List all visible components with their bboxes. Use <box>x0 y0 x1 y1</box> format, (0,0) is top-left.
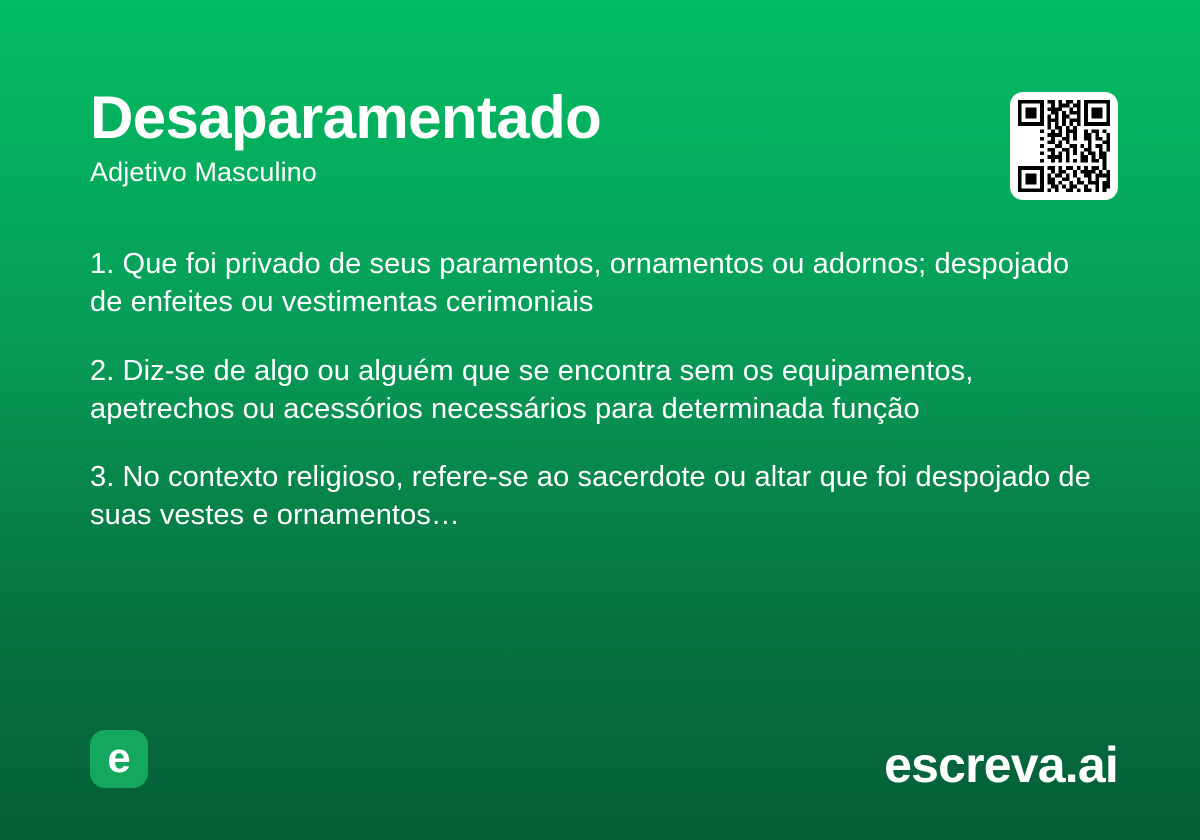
definition-item: 2. Diz-se de algo ou alguém que se encon… <box>90 352 1100 429</box>
logo-letter: e <box>107 737 130 779</box>
qr-code-icon <box>1018 100 1110 192</box>
definition-item: 3. No contexto religioso, refere-se ao s… <box>90 458 1100 535</box>
dictionary-card: Desaparamentado Adjetivo Masculino <box>0 0 1200 840</box>
page-title: Desaparamentado <box>90 86 1110 150</box>
brand-wordmark: escreva.ai <box>884 740 1118 790</box>
escreva-logo: e <box>90 730 148 788</box>
word-class-label: Adjetivo Masculino <box>90 156 1110 188</box>
definition-list: 1. Que foi privado de seus paramentos, o… <box>90 245 1100 535</box>
card-footer: e escreva.ai <box>90 730 1118 788</box>
card-header: Desaparamentado Adjetivo Masculino <box>90 86 1110 188</box>
definition-item: 1. Que foi privado de seus paramentos, o… <box>90 245 1100 322</box>
qr-code[interactable] <box>1010 92 1118 200</box>
